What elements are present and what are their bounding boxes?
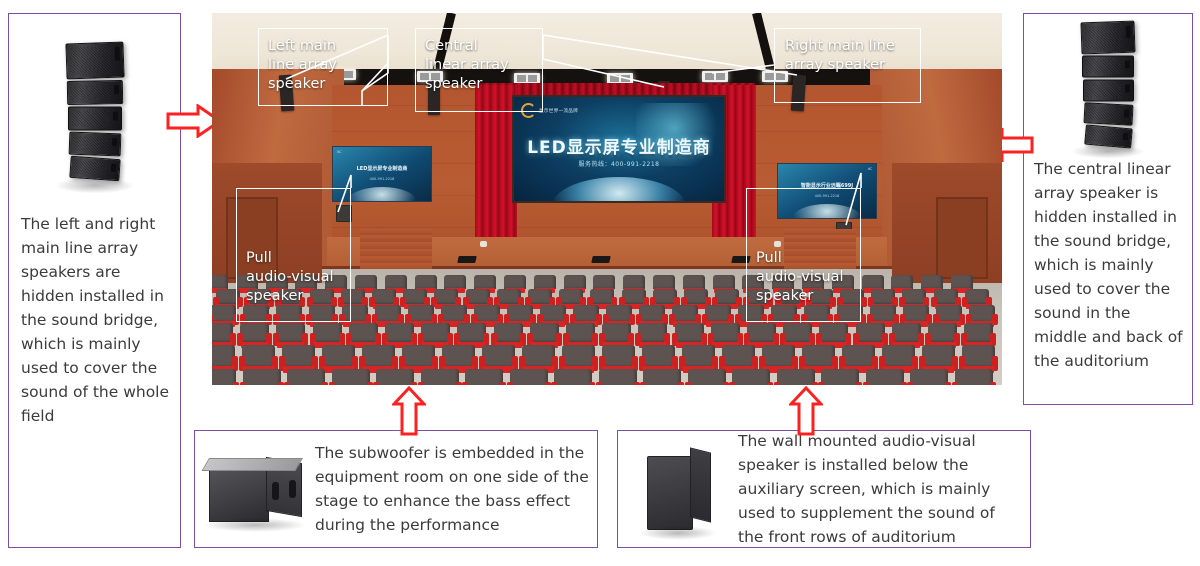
seat [821,369,859,385]
seat-back [643,369,681,385]
screen-hotline: 服务热线：400-991-2218 [514,159,724,168]
seat-arm-right [411,382,417,385]
seat-back [711,323,740,342]
seat [332,369,370,385]
seat-back [332,369,370,385]
seat-back [376,369,414,385]
seat [243,369,281,385]
seat [240,323,269,347]
seat-arm-left [507,382,513,385]
la-module-1 [65,41,124,79]
seat-back [653,275,675,289]
grille [72,111,109,127]
subwoofer-body [209,458,301,520]
seat-back [802,345,835,367]
seat-arm-left [329,382,335,385]
left-info-panel: The left and right main line array speak… [8,13,181,548]
wall-speaker-body [647,450,709,528]
seat [892,323,921,347]
seat-back [282,345,315,367]
seat-back [504,275,526,289]
screen-logo-text: 显示世界一流品牌 [539,108,578,114]
seat-arm-left [818,382,824,385]
grille [1085,25,1123,50]
seat-arm-left [373,382,379,385]
drop-shadow [55,178,135,194]
seat [287,369,325,385]
seat [882,345,915,372]
seat-back [457,323,486,342]
seat-back [602,323,631,342]
seat-back [622,289,646,304]
seat-back [934,289,958,304]
seat [465,369,503,385]
grille [70,84,109,101]
seat [928,323,957,347]
seat-arm-left [907,382,913,385]
seat-back [494,323,523,342]
seat-back [928,323,957,342]
stage-monitor-3 [591,256,610,263]
seat-arm-left [863,382,869,385]
seat-back [922,345,955,367]
seat-back [522,345,555,367]
seat-back [747,323,776,342]
callout-pull-speaker-left[interactable]: Pull audio-visual speaker [236,188,351,322]
la-module-4 [1083,102,1133,126]
seat [242,345,275,372]
subwoofer-description: The subwoofer is embedded in the equipme… [315,441,597,537]
seat [732,369,770,385]
arrow-up-icon [789,386,823,436]
seat [522,345,555,372]
seat-arm-left [284,382,290,385]
aux-globe-left [347,187,418,202]
seat-back [240,323,269,342]
aux-hotline-left: 400-991-2218 [333,177,431,181]
seat-arm-right [322,382,328,385]
seat-back [287,369,325,385]
seat-arm-right [634,382,640,385]
seat-back [564,275,586,289]
seat-arm-left [640,382,646,385]
seat [421,369,459,385]
seat-back [465,369,503,385]
seat [819,323,848,347]
seat [322,345,355,372]
screen-headline: LED显示屏专业制造商 [514,133,724,158]
seat [964,323,993,347]
port [111,138,116,147]
seat-back [313,323,342,342]
line-array-stack [66,43,124,182]
seat-back [593,275,615,289]
seat [777,369,815,385]
seat-back [243,369,281,385]
seat-back [322,345,355,367]
seat-back [562,345,595,367]
stage-light-left [480,241,487,247]
seat-arm-right [367,382,373,385]
seat-back [566,323,595,342]
seat-back [642,345,675,367]
la-module-3 [1083,80,1134,102]
right-panel-description: The central linear array speaker is hidd… [1034,157,1188,373]
callout-left-main-line-array[interactable]: Left main line array speaker [258,28,388,106]
seat [282,345,315,372]
seat-back [212,275,228,289]
seat-back [713,275,735,289]
seat-back [892,323,921,342]
seat [910,369,948,385]
seat [955,369,993,385]
callout-central-linear-array[interactable]: Central linear array speaker [415,28,543,112]
seat [554,369,592,385]
seat-back [482,345,515,367]
seat-back [385,275,407,289]
port [1125,61,1130,69]
callout-central-label: Central linear array speaker [425,37,509,94]
seat [643,369,681,385]
callout-pull-right-label: Pull audio-visual speaker [756,249,844,306]
seat [510,369,548,385]
seat [212,369,236,385]
seat [402,345,435,372]
left-panel-description: The left and right main line array speak… [21,212,174,428]
seat-back [962,345,995,367]
subwoofer-info-panel: The subwoofer is embedded in the equipme… [194,430,598,548]
line-array-speaker-image-right [1024,20,1192,150]
seat-back [602,345,635,367]
seat [802,345,835,372]
port [1126,26,1131,38]
callout-left-main-label: Left main line array speaker [268,37,337,94]
seat [722,345,755,372]
port [110,164,116,172]
seat-back [349,323,378,342]
aux-headline-left: LED显示屏专业制造商 [333,165,431,172]
seat [566,323,595,347]
seat-back [385,323,414,342]
side-wall-right [892,163,1002,283]
seat [313,323,342,347]
seat-back [762,345,795,367]
port [1125,85,1130,93]
la-module-2 [66,80,122,105]
seat-back [442,345,475,367]
port [113,85,118,94]
seat-back [819,323,848,342]
seat-arm-right [856,382,862,385]
seat-back [856,323,885,342]
seat-arm-right [767,382,773,385]
grille [1088,129,1119,144]
seat [866,369,904,385]
wall-speaker-front [647,456,693,530]
auditorium-photo: 显示世界一流品牌 LED显示屏专业制造商 服务热线：400-991-2218 i… [212,13,1002,385]
seat [638,323,667,347]
seat [530,323,559,347]
port [114,47,119,61]
wall-speaker-side [690,447,711,522]
grille [72,136,108,152]
port [1123,109,1128,117]
seat-back [362,345,395,367]
seat-back [466,289,490,304]
seat-back [722,345,755,367]
ceiling-light-5 [702,71,728,82]
seat-arm-right [589,382,595,385]
seat [602,323,631,347]
seat-back [783,323,812,342]
seat [212,323,233,347]
seat-back [688,369,726,385]
seat-back [951,275,973,289]
seat [385,323,414,347]
seat-back [682,345,715,367]
grille [1086,60,1121,74]
subwoofer-speaker-image [195,431,315,547]
seat-back [921,275,943,289]
vent-1 [272,482,279,500]
led-display-screen: 显示世界一流品牌 LED显示屏专业制造商 服务热线：400-991-2218 [512,95,726,203]
seat-arm-left [774,382,780,385]
seat-back [866,369,904,385]
stage-monitor-2 [457,256,476,263]
callout-pull-speaker-right[interactable]: Pull audio-visual speaker [746,188,861,322]
seat-arm-left [729,382,735,385]
seat-arm-left [240,382,246,385]
grille [1087,106,1120,121]
subwoofer-front [209,466,269,522]
seat-arm-right [723,382,729,385]
seat-back [675,323,704,342]
seat [376,369,414,385]
seat-back [955,369,993,385]
subwoofer-top [201,458,303,471]
seat [457,323,486,347]
seat-back [276,323,305,342]
arrow-up-icon [392,386,426,436]
seat [783,323,812,347]
seat-arm-left [685,382,691,385]
seat [276,323,305,347]
side-door-right [936,197,988,279]
seat-back [421,323,450,342]
seat-back [530,323,559,342]
seat-back [862,275,884,289]
la-module-4 [68,132,121,157]
seat-arm-left [462,382,468,385]
seat [494,323,523,347]
stage-steps-left [360,229,432,269]
wall-speaker-info-panel: The wall mounted audio-visual speaker is… [617,430,1031,548]
seat-arm-right [545,382,551,385]
seat-back [891,275,913,289]
screen-globe-graphic [552,177,686,203]
seat [711,323,740,347]
seat-arm-right [456,382,462,385]
seat [688,369,726,385]
grille [1087,84,1121,98]
port [1122,133,1128,141]
drop-shadow [203,518,307,532]
seat [922,345,955,372]
seat [442,345,475,372]
callout-right-main-line-array[interactable]: Right main line array speaker [774,28,921,103]
grille [69,46,111,75]
seat-arm-left [596,382,602,385]
seat-back [444,275,466,289]
seat [675,323,704,347]
wall-mounted-speaker-image [618,431,738,547]
seat [762,345,795,372]
seat-back [554,369,592,385]
seat-arm-left [952,382,958,385]
seat [962,345,995,372]
seat-back [623,275,645,289]
seat-arm-left [418,382,424,385]
seat [747,323,776,347]
seat-back [402,345,435,367]
seat-arm-right [812,382,818,385]
right-info-panel: The central linear array speaker is hidd… [1023,13,1193,405]
line-array-speaker-image-left [9,22,180,202]
seat-arm-right [233,382,239,385]
seat [349,323,378,347]
wall-speaker-description: The wall mounted audio-visual speaker is… [738,429,1030,549]
la-module-1 [1080,21,1135,55]
vent-2 [289,480,296,498]
port [113,112,118,121]
line-array-stack [1081,22,1135,149]
callout-right-main-label: Right main line array speaker [785,37,895,75]
seat [842,345,875,372]
seat [482,345,515,372]
grille [73,160,107,176]
seat-back [534,275,556,289]
seat-arm-left [551,382,557,385]
seat-back [732,369,770,385]
seat-back [474,275,496,289]
seat-arm-right [901,382,907,385]
seat [602,345,635,372]
seat-back [821,369,859,385]
seat-back [638,323,667,342]
seat-back [777,369,815,385]
la-module-3 [68,107,122,131]
seat-back [599,369,637,385]
la-module-2 [1082,56,1134,78]
seat-arm-right [278,382,284,385]
seat [682,345,715,372]
drop-shadow [639,526,717,540]
seat [362,345,395,372]
seat-back [421,369,459,385]
seat-back [964,323,993,342]
seat [599,369,637,385]
seat-arm-right [990,382,996,385]
seat-back [510,369,548,385]
aux-logo-right: iiC [868,167,872,171]
callout-pull-left-label: Pull audio-visual speaker [246,249,334,306]
seat [562,345,595,372]
seat-back [683,275,705,289]
seat-back [355,275,377,289]
seat-back [842,345,875,367]
aux-logo-left: iiC [337,150,341,154]
seat-back [242,345,275,367]
seat-back [882,345,915,367]
seat-back [415,275,437,289]
seat-arm-right [678,382,684,385]
seat-back [910,369,948,385]
seat-arm-right [945,382,951,385]
seat [642,345,675,372]
seat-arm-right [500,382,506,385]
seat [212,345,235,372]
seat [421,323,450,347]
seat [856,323,885,347]
